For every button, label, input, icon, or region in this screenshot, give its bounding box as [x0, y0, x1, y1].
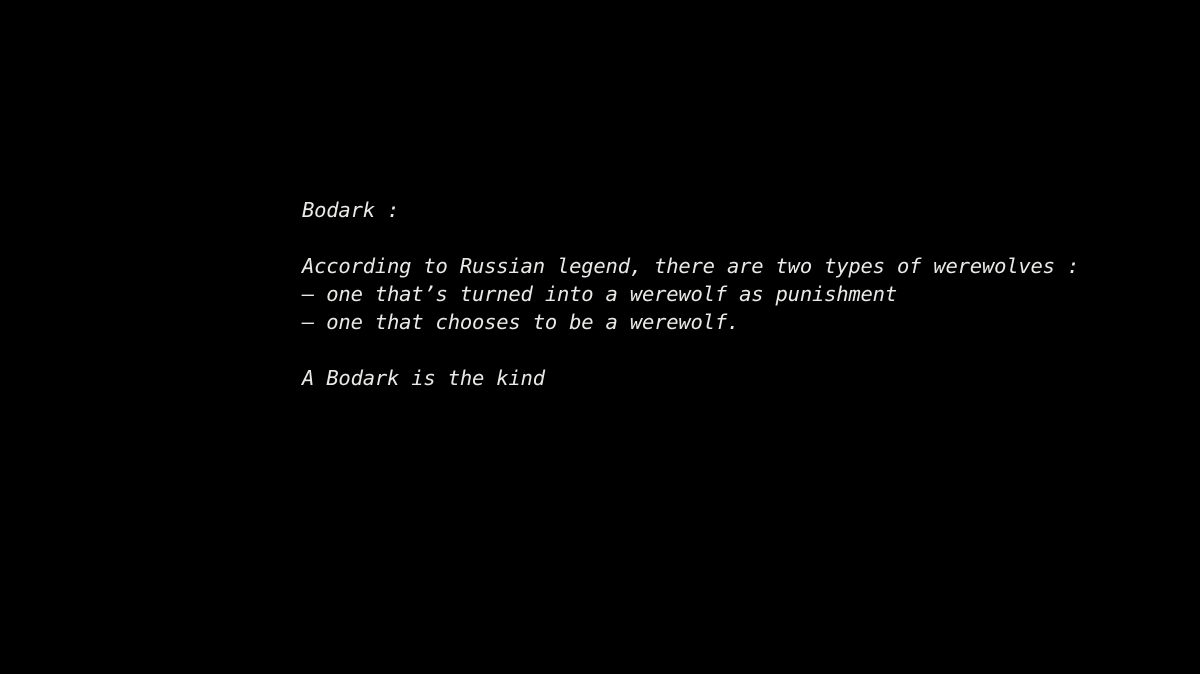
lore-spacer-2 — [302, 336, 1162, 364]
lore-paragraph-line-1: According to Russian legend, there are t… — [302, 252, 1162, 280]
lore-closing-line: A Bodark is the kind — [302, 364, 1162, 392]
lore-paragraph-line-3: – one that chooses to be a werewolf. — [302, 308, 1162, 336]
screen-root: Bodark : According to Russian legend, th… — [0, 0, 1200, 674]
lore-text-overlay: Bodark : According to Russian legend, th… — [302, 196, 1162, 392]
lore-spacer-1 — [302, 224, 1162, 252]
lore-paragraph-line-2: – one that’s turned into a werewolf as p… — [302, 280, 1162, 308]
lore-heading: Bodark : — [302, 196, 1162, 224]
